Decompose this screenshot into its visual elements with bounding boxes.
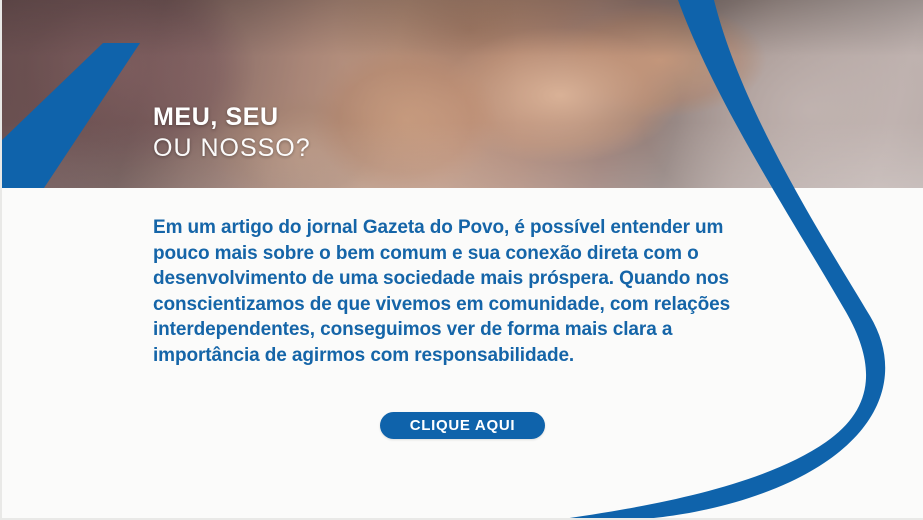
hero-photo-region: [0, 0, 923, 188]
headline: MEU, SEU OU NOSSO?: [153, 103, 311, 164]
body-copy: Em um artigo do jornal Gazeta do Povo, é…: [153, 215, 773, 368]
body-paragraph: Em um artigo do jornal Gazeta do Povo, é…: [153, 215, 773, 368]
headline-line-2: OU NOSSO?: [153, 133, 311, 164]
promotional-banner: MEU, SEU OU NOSSO? Em um artigo do jorna…: [0, 0, 923, 520]
clique-aqui-button[interactable]: CLIQUE AQUI: [380, 412, 545, 439]
left-edge-divider: [0, 0, 2, 520]
headline-line-1: MEU, SEU: [153, 103, 311, 133]
